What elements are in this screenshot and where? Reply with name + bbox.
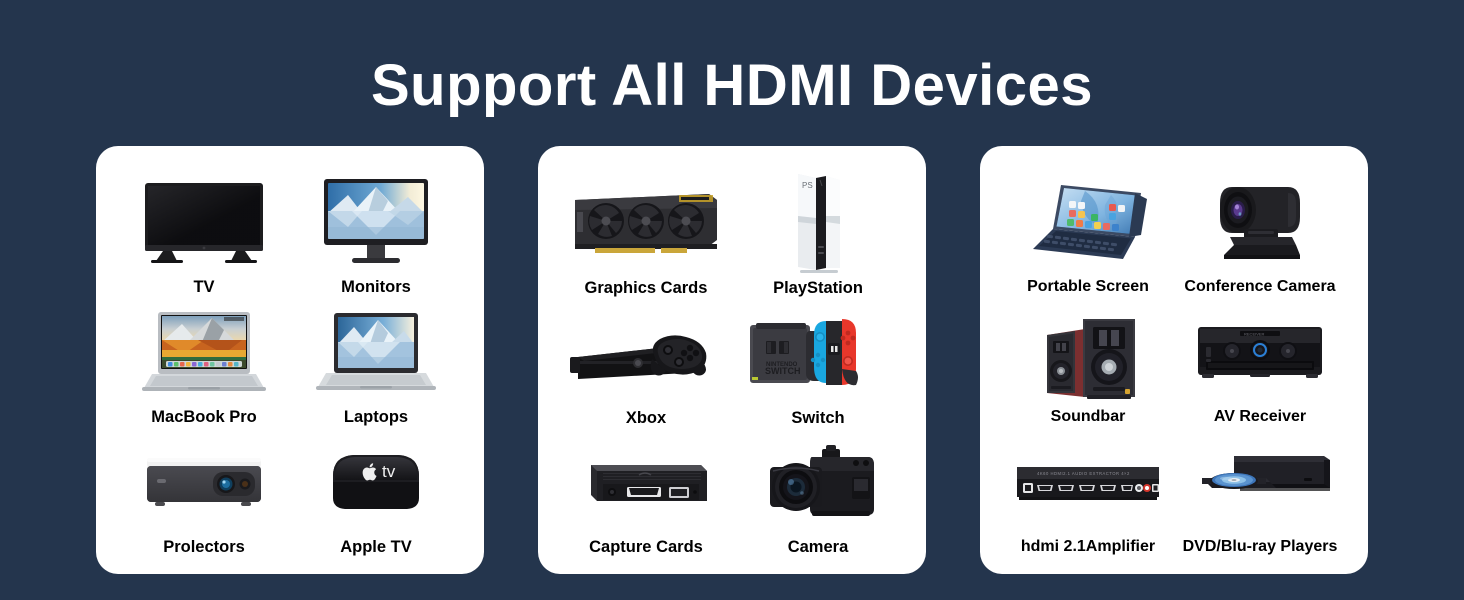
graphics-card-icon [560,170,732,276]
device-label: Apple TV [340,538,412,560]
device-label: PlayStation [773,279,863,301]
projector-icon [118,430,290,535]
device-label: AV Receiver [1214,408,1306,430]
device-label: Capture Cards [589,538,703,560]
device-item[interactable]: DVD/Blu-ray Players [1174,430,1346,560]
device-item[interactable]: PS PlayStation [732,170,904,301]
device-item[interactable]: MacBook Pro [118,300,290,430]
device-label: TV [193,278,214,300]
device-item[interactable]: Prolectors [118,430,290,560]
device-item[interactable]: Monitors [290,170,462,300]
device-item[interactable]: Soundbar [1002,300,1174,430]
device-label: Xbox [626,409,666,431]
device-label: Conference Camera [1184,278,1335,300]
hdmi-amplifier-icon: 4K60 HDMI2.1 AUDIO EXTRACTOR 4×2 [1002,430,1174,535]
device-item[interactable]: 4K60 HDMI2.1 AUDIO EXTRACTOR 4×2 [1002,430,1174,560]
device-item[interactable]: Camera [732,431,904,561]
dvd-player-icon [1174,430,1346,535]
device-label: Prolectors [163,538,245,560]
portable-screen-icon [1002,170,1174,275]
device-item[interactable]: Laptops [290,300,462,430]
display-devices-card: TV [96,146,484,574]
nintendo-switch-icon: NINTENDO SWITCH [732,301,904,406]
device-label: MacBook Pro [151,408,256,430]
device-label: hdmi 2.1Amplifier [1021,538,1155,560]
apple-tv-icon: tv [290,430,462,535]
device-cards-row: TV [96,146,1368,574]
device-label: Graphics Cards [585,279,708,301]
device-item[interactable]: tv Apple TV [290,430,462,560]
xbox-icon [560,301,732,406]
av-devices-card: Portable Screen [980,146,1368,574]
device-item[interactable]: TV [118,170,290,300]
device-label: Monitors [341,278,411,300]
device-item[interactable]: Capture Cards [560,431,732,561]
svg-text:PS: PS [802,181,813,190]
speakers-icon [1002,300,1174,405]
conference-camera-icon [1174,170,1346,275]
device-label: Camera [788,538,849,560]
hdmi-devices-banner: Support All HDMI Devices [0,0,1464,600]
device-item[interactable]: Portable Screen [1002,170,1174,300]
device-label: Laptops [344,408,408,430]
device-label: DVD/Blu-ray Players [1183,538,1338,560]
device-item[interactable]: RECEIVER [1174,300,1346,430]
device-label: Portable Screen [1027,278,1149,300]
capture-card-icon [560,431,732,536]
device-item[interactable]: Conference Camera [1174,170,1346,300]
tv-icon [118,170,290,275]
device-label: Soundbar [1051,408,1126,430]
device-item[interactable]: Graphics Cards [560,170,732,301]
macbook-pro-icon [118,300,290,405]
monitor-icon [290,170,462,275]
page-title: Support All HDMI Devices [0,52,1464,119]
device-item[interactable]: NINTENDO SWITCH [732,301,904,431]
svg-text:RECEIVER: RECEIVER [1244,331,1265,336]
svg-text:SWITCH: SWITCH [765,366,801,376]
gaming-devices-card: Graphics Cards [538,146,926,574]
svg-text:tv: tv [382,462,396,481]
laptop-icon [290,300,462,405]
camera-icon [732,431,904,536]
playstation-icon: PS [732,170,904,276]
device-item[interactable]: Xbox [560,301,732,431]
svg-text:4K60 HDMI2.1 AUDIO EXTRACTOR 4: 4K60 HDMI2.1 AUDIO EXTRACTOR 4×2 [1037,471,1130,476]
av-receiver-icon: RECEIVER [1174,300,1346,405]
device-label: Switch [791,409,844,431]
